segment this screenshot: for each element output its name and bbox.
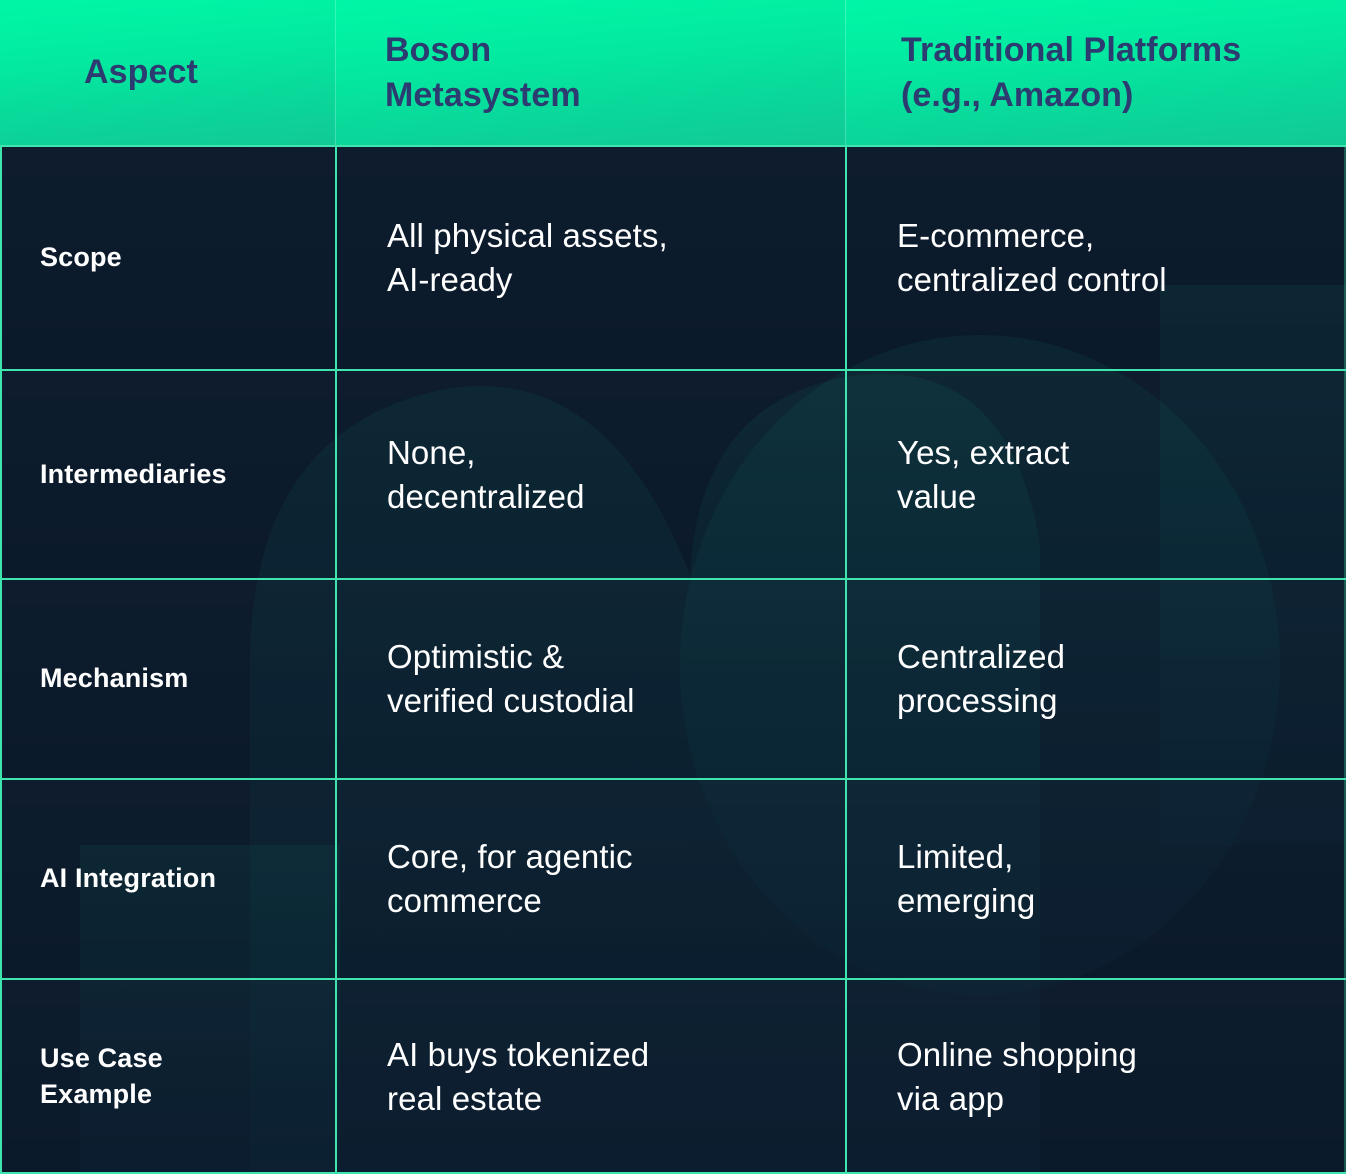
table-row: AI Integration xyxy=(0,778,335,978)
table-row: Limited, emerging xyxy=(845,778,1346,978)
column-header-aspect-label: Aspect xyxy=(84,50,198,94)
comparison-table: Aspect Boson Metasystem Traditional Plat… xyxy=(0,0,1346,1174)
cell-boson: All physical assets, AI-ready xyxy=(387,214,668,302)
cell-aspect: Mechanism xyxy=(40,661,188,697)
table-row: Mechanism xyxy=(0,578,335,778)
table-row: Use Case Example xyxy=(0,978,335,1174)
table-row: All physical assets, AI-ready xyxy=(335,145,845,369)
cell-boson: Core, for agentic commerce xyxy=(387,835,633,923)
cell-boson: None, decentralized xyxy=(387,431,585,519)
cell-aspect: Scope xyxy=(40,240,122,276)
table-row: Online shopping via app xyxy=(845,978,1346,1174)
table-row: Intermediaries xyxy=(0,369,335,578)
cell-aspect: Intermediaries xyxy=(40,457,227,493)
cell-traditional: Online shopping via app xyxy=(897,1033,1137,1121)
table-row: E-commerce, centralized control xyxy=(845,145,1346,369)
column-header-traditional-label: Traditional Platforms (e.g., Amazon) xyxy=(901,28,1241,116)
column-header-boson-label: Boson Metasystem xyxy=(385,28,581,116)
table-row: Centralized processing xyxy=(845,578,1346,778)
table-row: Scope xyxy=(0,145,335,369)
cell-boson: Optimistic & verified custodial xyxy=(387,635,635,723)
table-border-left xyxy=(0,145,2,1174)
cell-traditional: Centralized processing xyxy=(897,635,1065,723)
header-divider xyxy=(845,0,846,145)
cell-aspect: AI Integration xyxy=(40,861,216,897)
cell-traditional: E-commerce, centralized control xyxy=(897,214,1167,302)
table-row: Core, for agentic commerce xyxy=(335,778,845,978)
cell-boson: AI buys tokenized real estate xyxy=(387,1033,649,1121)
table-row: Optimistic & verified custodial xyxy=(335,578,845,778)
header-divider xyxy=(335,0,336,145)
column-header-boson[interactable]: Boson Metasystem xyxy=(335,0,845,145)
cell-traditional: Limited, emerging xyxy=(897,835,1035,923)
table-row: AI buys tokenized real estate xyxy=(335,978,845,1174)
table-row: None, decentralized xyxy=(335,369,845,578)
cell-aspect: Use Case Example xyxy=(40,1041,163,1113)
column-header-traditional[interactable]: Traditional Platforms (e.g., Amazon) xyxy=(845,0,1346,145)
table-row: Yes, extract value xyxy=(845,369,1346,578)
column-header-aspect[interactable]: Aspect xyxy=(0,0,335,145)
cell-traditional: Yes, extract value xyxy=(897,431,1069,519)
